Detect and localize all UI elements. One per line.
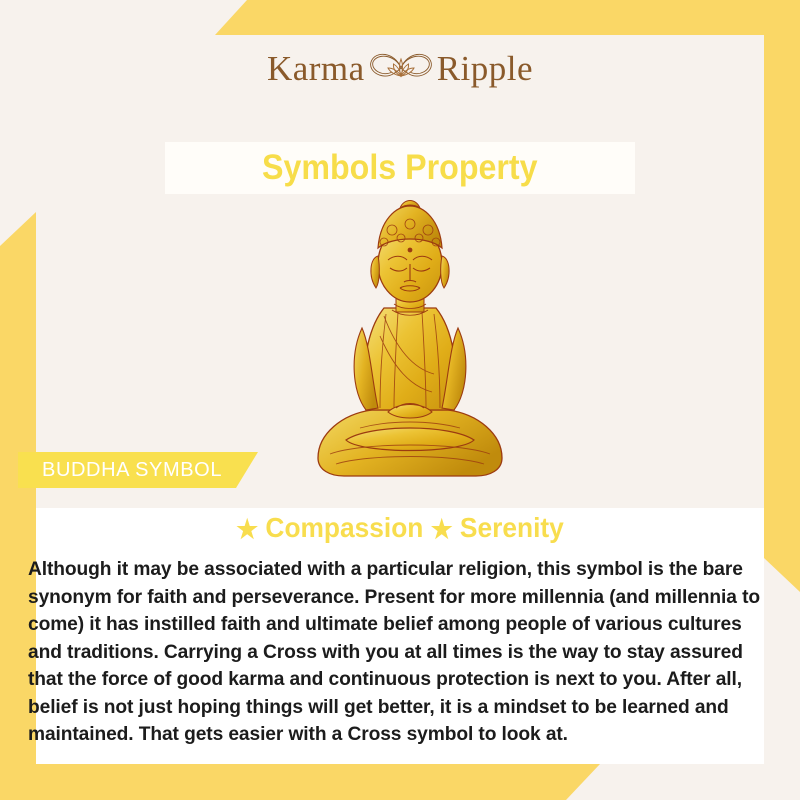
tagline-item-two: Serenity [460,512,564,543]
body-paragraph: Although it may be associated with a par… [28,556,772,749]
golden-buddha-statue-icon [300,196,520,492]
poster-root: Karma [0,0,800,800]
brand-logo: Karma [0,44,800,92]
star-icon-one: ★ [236,514,258,544]
star-icon-two: ★ [431,514,453,544]
brand-word-right: Ripple [437,51,533,86]
tagline: ★ Compassion ★ Serenity [24,512,776,545]
page-title: Symbols Property [262,148,538,188]
title-band: Symbols Property [165,142,635,194]
lotus-infinity-icon [369,44,433,92]
frame-bar-bottom [0,764,600,800]
buddha-symbol-ribbon: BUDDHA SYMBOL [18,452,258,488]
ribbon-label: BUDDHA SYMBOL [18,459,222,482]
frame-bar-top [215,0,800,35]
brand-word-left: Karma [267,51,365,86]
tagline-item-one: Compassion [265,512,423,543]
